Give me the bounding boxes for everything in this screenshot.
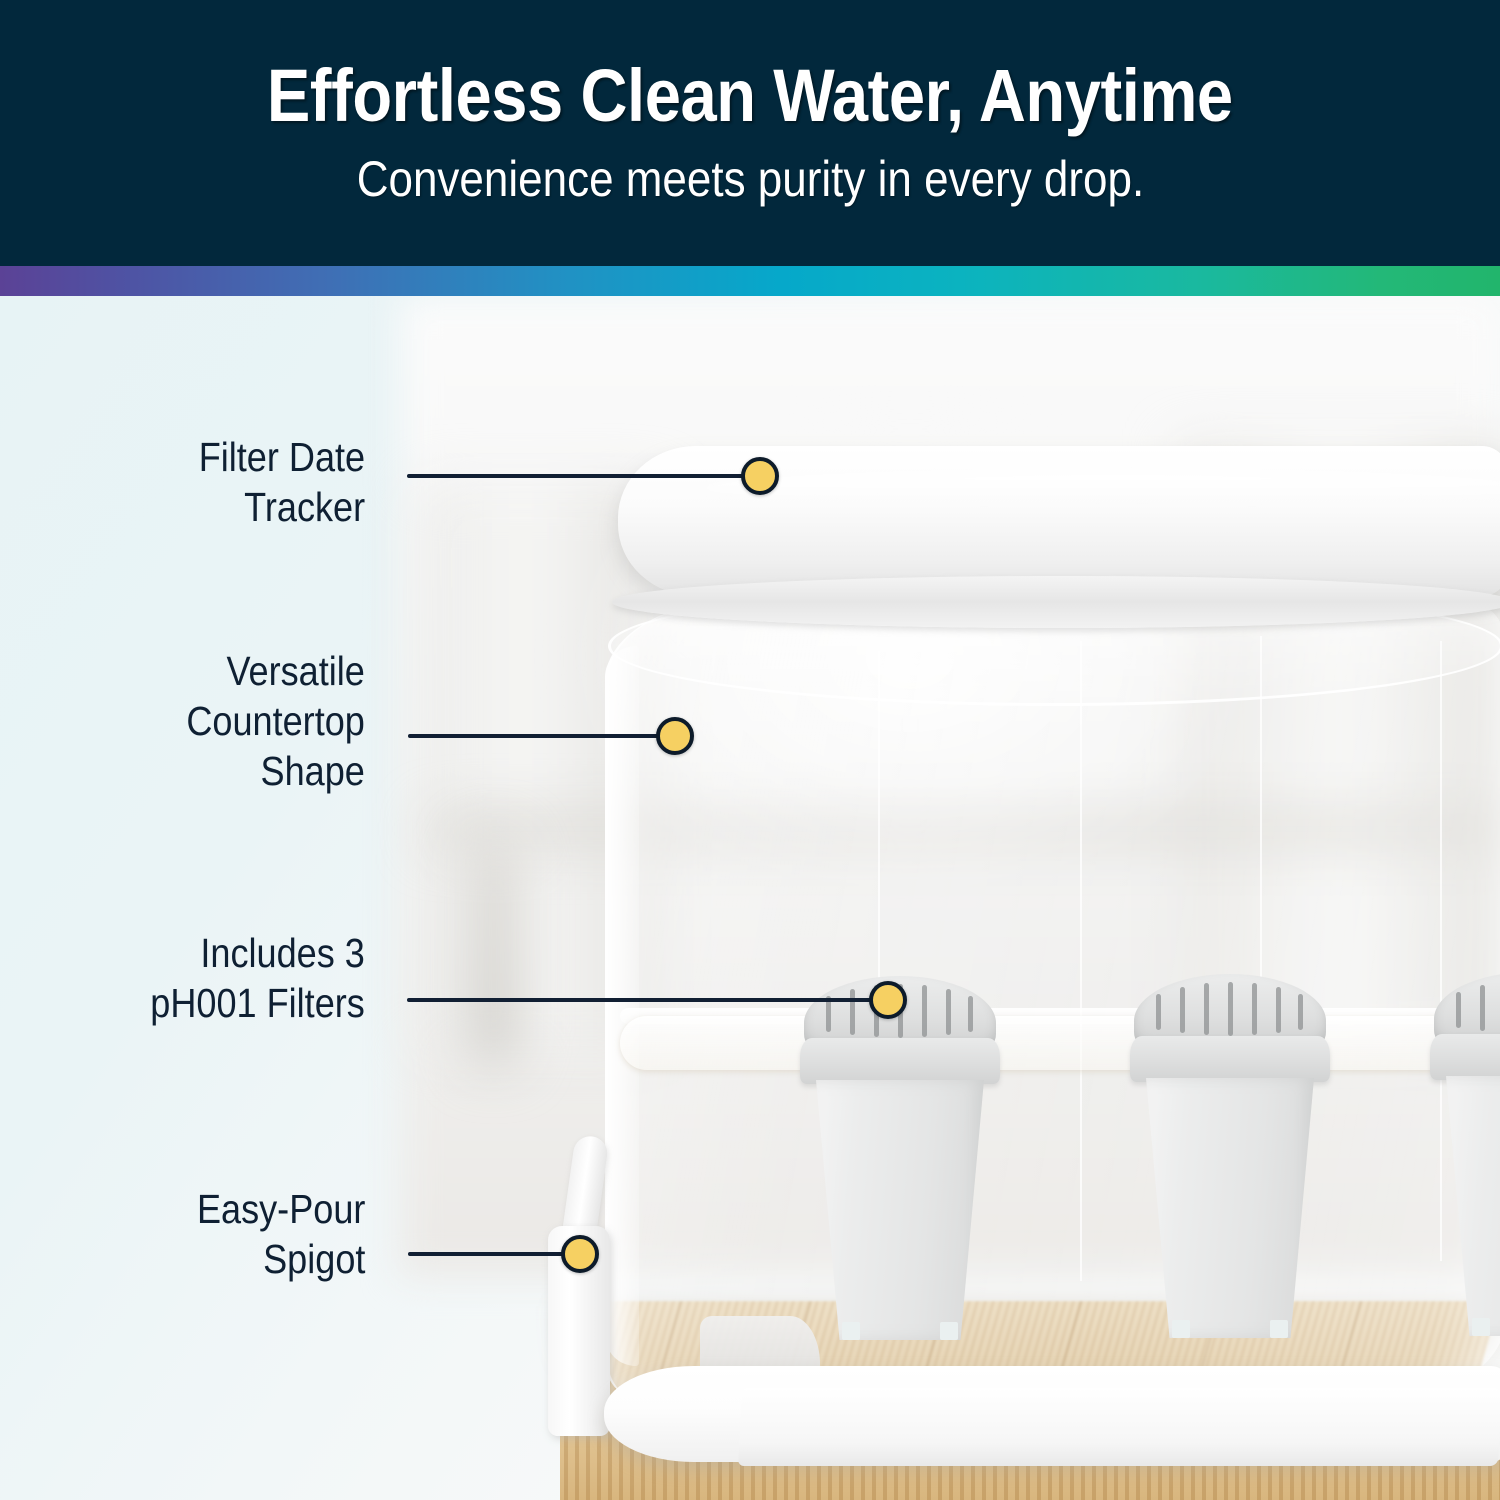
page-title: Effortless Clean Water, Anytime — [267, 58, 1233, 133]
header-banner: Effortless Clean Water, Anytime Convenie… — [0, 0, 1500, 266]
callout-label-filter-date-tracker: Filter Date Tracker — [199, 432, 365, 532]
callout-dot-filter-date-tracker[interactable] — [741, 457, 779, 495]
lid-highlight — [698, 470, 1500, 506]
dispenser-base-front — [738, 1388, 1500, 1466]
callout-label-versatile-countertop-shape: Versatile Countertop Shape — [186, 646, 365, 796]
filter-notch — [1270, 1320, 1288, 1338]
filter-body — [1146, 1078, 1314, 1338]
callout-line-easy-pour-spigot — [408, 1252, 574, 1256]
water-dispenser — [560, 436, 1500, 1486]
gradient-divider — [0, 266, 1500, 296]
callout-label-includes-3-ph001-filters: Includes 3 pH001 Filters — [150, 928, 365, 1028]
tank-seam — [1080, 641, 1082, 1281]
filter-notch — [842, 1322, 860, 1340]
callout-line-filter-date-tracker — [407, 474, 753, 478]
filter-collar — [800, 1038, 1000, 1084]
product-photo-stage: Filter Date Tracker Versatile Countertop… — [0, 296, 1500, 1500]
filter-collar — [1130, 1036, 1330, 1082]
filter-notch — [940, 1322, 958, 1340]
callout-dot-includes-3-ph001-filters[interactable] — [869, 981, 907, 1019]
background-utensil — [470, 836, 518, 1066]
tank-seam — [1440, 641, 1442, 1261]
page-subtitle: Convenience meets purity in every drop. — [356, 150, 1144, 208]
callout-dot-versatile-countertop-shape[interactable] — [656, 717, 694, 755]
filter-collar — [1430, 1034, 1500, 1080]
filter-notch — [1472, 1318, 1490, 1336]
reservoir-shelf — [620, 1016, 1500, 1070]
filter-notch — [1172, 1320, 1190, 1338]
callout-label-easy-pour-spigot: Easy-Pour Spigot — [197, 1184, 365, 1284]
lid-rim — [612, 576, 1500, 628]
tank-left-wall — [605, 646, 639, 1366]
callout-dot-easy-pour-spigot[interactable] — [561, 1235, 599, 1273]
filter-body — [816, 1080, 984, 1340]
callout-line-versatile-countertop-shape — [408, 734, 670, 738]
callout-line-includes-3-ph001-filters — [407, 998, 879, 1002]
